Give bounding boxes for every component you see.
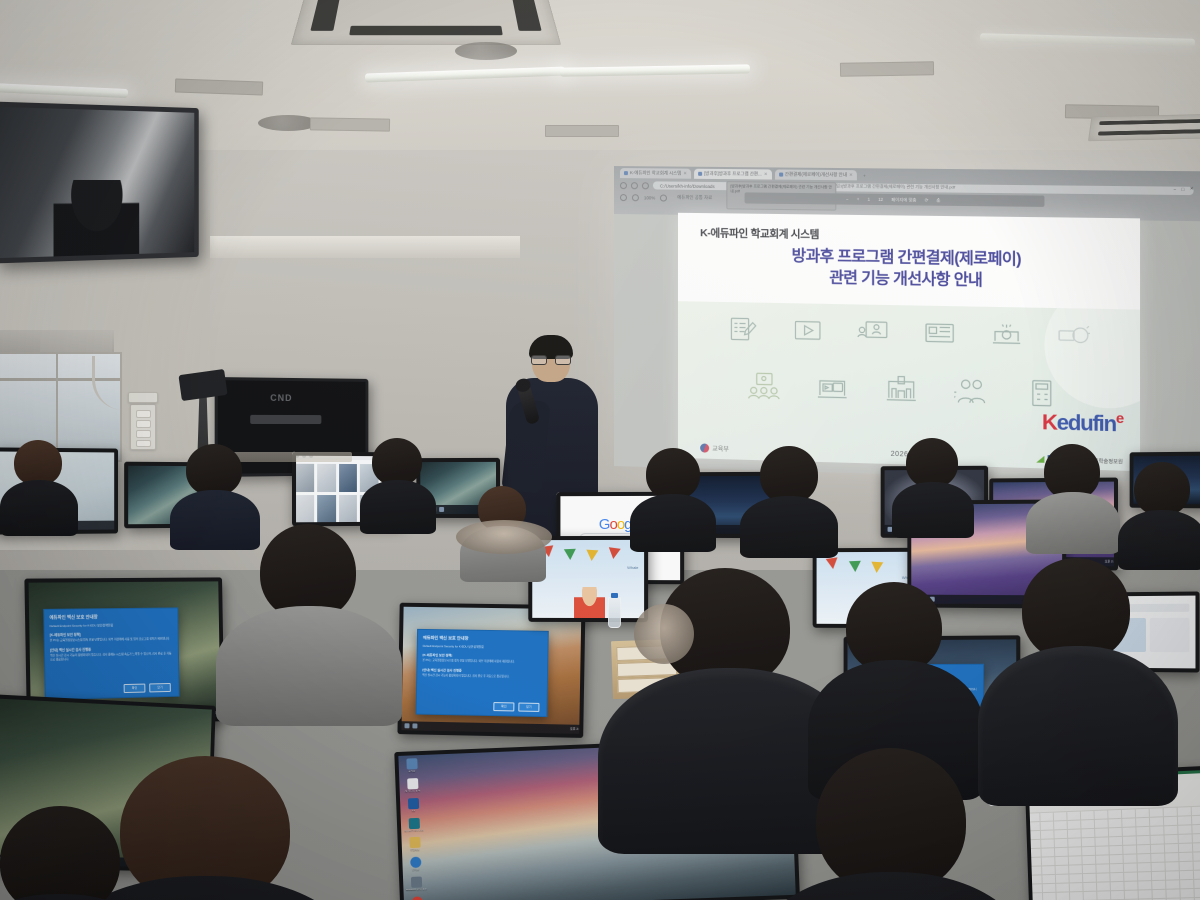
- fur-hood: [634, 604, 694, 664]
- attendee-10: [260, 524, 356, 620]
- zoom-out-icon[interactable]: −: [846, 197, 849, 202]
- grid-icon[interactable]: [620, 194, 627, 201]
- ceiling-vent-d: [545, 125, 619, 137]
- browser-tab-label: K-에듀파인 학교회계 시스템: [630, 170, 681, 177]
- maximize-button[interactable]: □: [1181, 186, 1184, 191]
- classroom-photo: K-에듀파인 학교회계 시스템 ✕ [방과후]방과후 프로그램 간편... ✕ …: [0, 0, 1200, 900]
- calculator-icon: [1008, 375, 1074, 412]
- av-control-panel[interactable]: [130, 404, 156, 450]
- back-icon[interactable]: [620, 182, 627, 189]
- folder-icon: [409, 837, 420, 848]
- video-play-icon: [777, 313, 838, 349]
- desk-row-back: [226, 452, 352, 462]
- water-bottle-1[interactable]: [608, 596, 621, 628]
- security-dialog[interactable]: 에듀파인 백신 보호 안내창 Default Endpoint Security…: [43, 607, 179, 700]
- attendee-1: [14, 440, 62, 486]
- dialog-section1-body: 본 PC는 교육행정정보시스템 접속 전용 단말입니다. 외부 저장매체 사용이…: [422, 659, 542, 665]
- zoom-level[interactable]: 100%: [644, 195, 655, 200]
- minimize-button[interactable]: −: [1173, 186, 1176, 191]
- document-icon: [909, 316, 971, 352]
- recycle-bin-icon: [406, 758, 417, 769]
- ceiling-light-2: [365, 67, 565, 83]
- projection-screen: K-에듀파인 학교회계 시스템 ✕ [방과후]방과후 프로그램 간편... ✕ …: [614, 166, 1200, 483]
- pdf-filename: [붙임1]방과후 프로그램 간편결제(제로페이) 관련 기능 개선사항 안내.p…: [831, 183, 955, 190]
- laptop-media-icon: [800, 370, 864, 406]
- data-transfer-icon: [1042, 318, 1106, 354]
- desktop-icon-v3[interactable]: V3: [403, 797, 423, 813]
- desktop-icon-recycle-bin[interactable]: 휴지통: [401, 758, 421, 774]
- ac-vent-2: [1088, 114, 1200, 141]
- attendee-3: [372, 438, 422, 486]
- attendee-6: [760, 446, 818, 504]
- ceiling-vent-a: [175, 78, 263, 95]
- clock-time: 오후 2:14: [570, 728, 581, 731]
- presentation-slide: K-에듀파인 학교회계 시스템 방과후 프로그램 간편결제(제로페이) 관련 기…: [678, 213, 1140, 471]
- desktop-icon-label: V3: [412, 810, 415, 813]
- chrome-icon: [411, 896, 422, 900]
- attendee-11: [660, 568, 790, 688]
- dialog-title: 에듀파인 백신 보호 안내창: [423, 635, 543, 643]
- online-class-icon: [732, 369, 796, 405]
- video-conference-icon: [842, 314, 904, 350]
- desktop-icon-edufine[interactable]: 에듀파인 바로가기: [404, 817, 424, 833]
- cnd-brand-label: CND: [270, 393, 292, 403]
- desktop-icon-internet[interactable]: 인터넷: [405, 857, 425, 873]
- attendee-14: [120, 756, 290, 900]
- window-controls: − □ ✕: [1173, 186, 1193, 192]
- teachers-icon: [938, 373, 1004, 409]
- dialog-section2-body: 백신 실시간 감시 기능이 활성화되어 있습니다. 검사 중에는 시스템 속도가…: [50, 652, 173, 662]
- ceiling-vent-e: [840, 61, 934, 77]
- ceiling-speaker-1: [455, 42, 517, 60]
- slide-icon-row-1: [712, 312, 1106, 355]
- dialog-close-button[interactable]: 닫기: [149, 683, 171, 692]
- close-icon[interactable]: ✕: [849, 172, 853, 178]
- browser-tab-1[interactable]: [방과후]방과후 프로그램 간편... ✕: [694, 169, 772, 180]
- desktop-icon-label: Windows 관리 도구: [406, 888, 427, 892]
- illustration-figure: [574, 587, 605, 620]
- screen-wallpaper[interactable]: 에듀파인 백신 보호 안내창 Default Endpoint Security…: [401, 607, 581, 734]
- attendee-8: [1044, 444, 1100, 500]
- dialog-section2-head: [안내] 백신 실시간 검사 진행중: [422, 667, 542, 674]
- desktop-icon-label: 에듀파인 바로가기: [404, 829, 424, 833]
- slide-eyebrow: K-에듀파인 학교회계 시스템: [700, 225, 819, 242]
- browser-tab-2[interactable]: 간편결제(제로페이)개선사항 안내 ✕: [775, 169, 857, 180]
- dialog-close-button[interactable]: 닫기: [518, 703, 539, 712]
- address-value: C:/Users/kh-info/Downloads: [660, 183, 715, 189]
- attendee-16: [816, 748, 966, 894]
- logo-e: e: [1116, 409, 1123, 426]
- bookmark-label[interactable]: 에듀파인 공통 자료: [677, 195, 712, 201]
- desktop-icon-folder[interactable]: 수업자료: [404, 837, 424, 853]
- content-panel-2: [1150, 618, 1190, 652]
- slide-icon-row-2: [732, 369, 1074, 412]
- page-current[interactable]: 1: [868, 197, 870, 202]
- bunting-decoration: [821, 557, 913, 575]
- podium-control-bar: [250, 415, 321, 424]
- chrome-icon[interactable]: [412, 723, 417, 728]
- page-total: 12: [878, 197, 883, 202]
- attendee-5: [646, 448, 700, 500]
- bunting-decoration: [538, 546, 639, 564]
- logo-k: K: [1042, 411, 1057, 435]
- kedufine-logo: Kedufine: [1042, 409, 1123, 436]
- desktop-icon-label: 수업자료: [410, 849, 420, 852]
- rotate-icon[interactable]: ⟳: [925, 197, 929, 202]
- close-icon[interactable]: ✕: [764, 171, 768, 177]
- chrome-icon[interactable]: [439, 507, 444, 512]
- dialog-section1-head: [K-에듀파인 보안 정책]: [50, 630, 173, 637]
- windows-tools-icon: [410, 877, 421, 888]
- security-dialog[interactable]: 에듀파인 백신 보호 안내창 Default Endpoint Security…: [416, 629, 549, 717]
- desktop-icon-label: 휴지통: [408, 770, 415, 773]
- forward-icon[interactable]: [631, 182, 638, 189]
- zoom-in-icon[interactable]: +: [857, 197, 860, 202]
- attendee-9: [1134, 462, 1190, 516]
- av-panel-label: [128, 392, 158, 403]
- text-file-icon: [407, 778, 418, 789]
- slide-title: 방과후 프로그램 간편결제(제로페이) 관련 기능 개선사항 안내: [678, 245, 1140, 295]
- attendee-12: [846, 582, 942, 674]
- spreadsheet-grid[interactable]: [1026, 805, 1200, 900]
- browser-tab-label: [방과후]방과후 프로그램 간편...: [704, 171, 762, 178]
- whale-brand-label: Whale: [627, 565, 638, 570]
- school-building-icon: [869, 372, 934, 408]
- attendee-7: [906, 438, 958, 488]
- download-icon[interactable]: [632, 194, 639, 201]
- desktop-icon-label: 인터넷: [412, 869, 419, 872]
- close-icon[interactable]: ✕: [683, 171, 687, 177]
- bottle-cap: [611, 593, 618, 598]
- dialog-subtitle: Default Endpoint Security for K-EDU 보안정책…: [50, 622, 173, 628]
- edge-browser-icon: [408, 817, 419, 828]
- dialog-confirm-button[interactable]: 확인: [124, 684, 146, 693]
- dialog-section2-head: [안내] 백신 실시간 검사 진행중: [50, 645, 173, 652]
- internet-explorer-icon: [410, 857, 421, 868]
- attendee-13: [1022, 558, 1130, 662]
- eyeglasses-icon: [531, 355, 571, 363]
- new-tab-button[interactable]: +: [860, 173, 869, 178]
- bookmark-star-icon[interactable]: [660, 194, 667, 201]
- checklist-pen-icon: [712, 312, 773, 348]
- ceiling-light-1: [0, 83, 128, 98]
- ceiling-light-5: [980, 33, 1195, 47]
- logo-mid: edufin: [1057, 411, 1116, 436]
- browser-tabstrip: K-에듀파인 학교회계 시스템 ✕ [방과후]방과후 프로그램 간편... ✕ …: [620, 168, 869, 180]
- fur-hood: [456, 520, 552, 554]
- desktop-icon-text-file[interactable]: 새 텍스트 문서: [402, 778, 422, 794]
- attendee-15: [0, 806, 120, 900]
- dialog-section2-body: 백신 실시간 감시 기능이 활성화되어 있습니다. 검사 완료 후 자동으로 종…: [422, 674, 542, 680]
- dialog-subtitle: Default Endpoint Security for K-EDU 보안정책…: [423, 644, 543, 650]
- reload-icon[interactable]: [642, 182, 649, 189]
- favicon-icon: [698, 172, 702, 176]
- start-icon[interactable]: [404, 723, 409, 728]
- desktop-icon-chrome[interactable]: Chrome: [407, 896, 427, 900]
- favicon-icon: [624, 171, 628, 175]
- attendee-2: [186, 444, 242, 496]
- desktop-icons: 휴지통 새 텍스트 문서 V3 에듀파인 바로가기 수업자료: [401, 758, 427, 900]
- e-learning-icon: [975, 317, 1038, 353]
- dialog-section1-head: [K-에듀파인 보안 정책]: [423, 652, 543, 659]
- dialog-title: 에듀파인 백신 보호 안내창: [49, 613, 172, 621]
- close-button[interactable]: ✕: [1190, 186, 1194, 192]
- fit-page-label[interactable]: 페이지에 맞춤: [891, 197, 916, 203]
- ac-vent-1: [291, 0, 561, 45]
- attendee-4: [478, 486, 526, 532]
- desktop-icon-windows-tools[interactable]: Windows 관리 도구: [406, 876, 426, 891]
- monitor-security-dialog-mid: 에듀파인 백신 보호 안내창 Default Endpoint Security…: [397, 603, 585, 738]
- browser-tab-label: 간편결제(제로페이)개선사항 안내: [785, 172, 847, 179]
- v3-antivirus-icon: [407, 798, 418, 809]
- favicon-icon: [779, 173, 783, 177]
- taskbar[interactable]: 오후 2:14: [401, 721, 581, 734]
- ceiling-vent-b: [310, 117, 390, 131]
- print-icon[interactable]: ⎙: [937, 198, 940, 203]
- ceiling-light-3: [560, 64, 750, 76]
- dialog-confirm-button[interactable]: 확인: [493, 702, 514, 711]
- desktop-icon-label: 새 텍스트 문서: [405, 790, 421, 793]
- browser-tab-0[interactable]: K-에듀파인 학교회계 시스템 ✕: [620, 168, 691, 179]
- system-tray[interactable]: 오후 2:14: [570, 728, 581, 731]
- wall-mounted-display: [0, 102, 199, 264]
- dialog-section1-body: 본 PC는 교육행정정보시스템 접속 전용 단말입니다. 외부 저장매체 사용 …: [50, 637, 173, 643]
- display-figure: [54, 180, 140, 257]
